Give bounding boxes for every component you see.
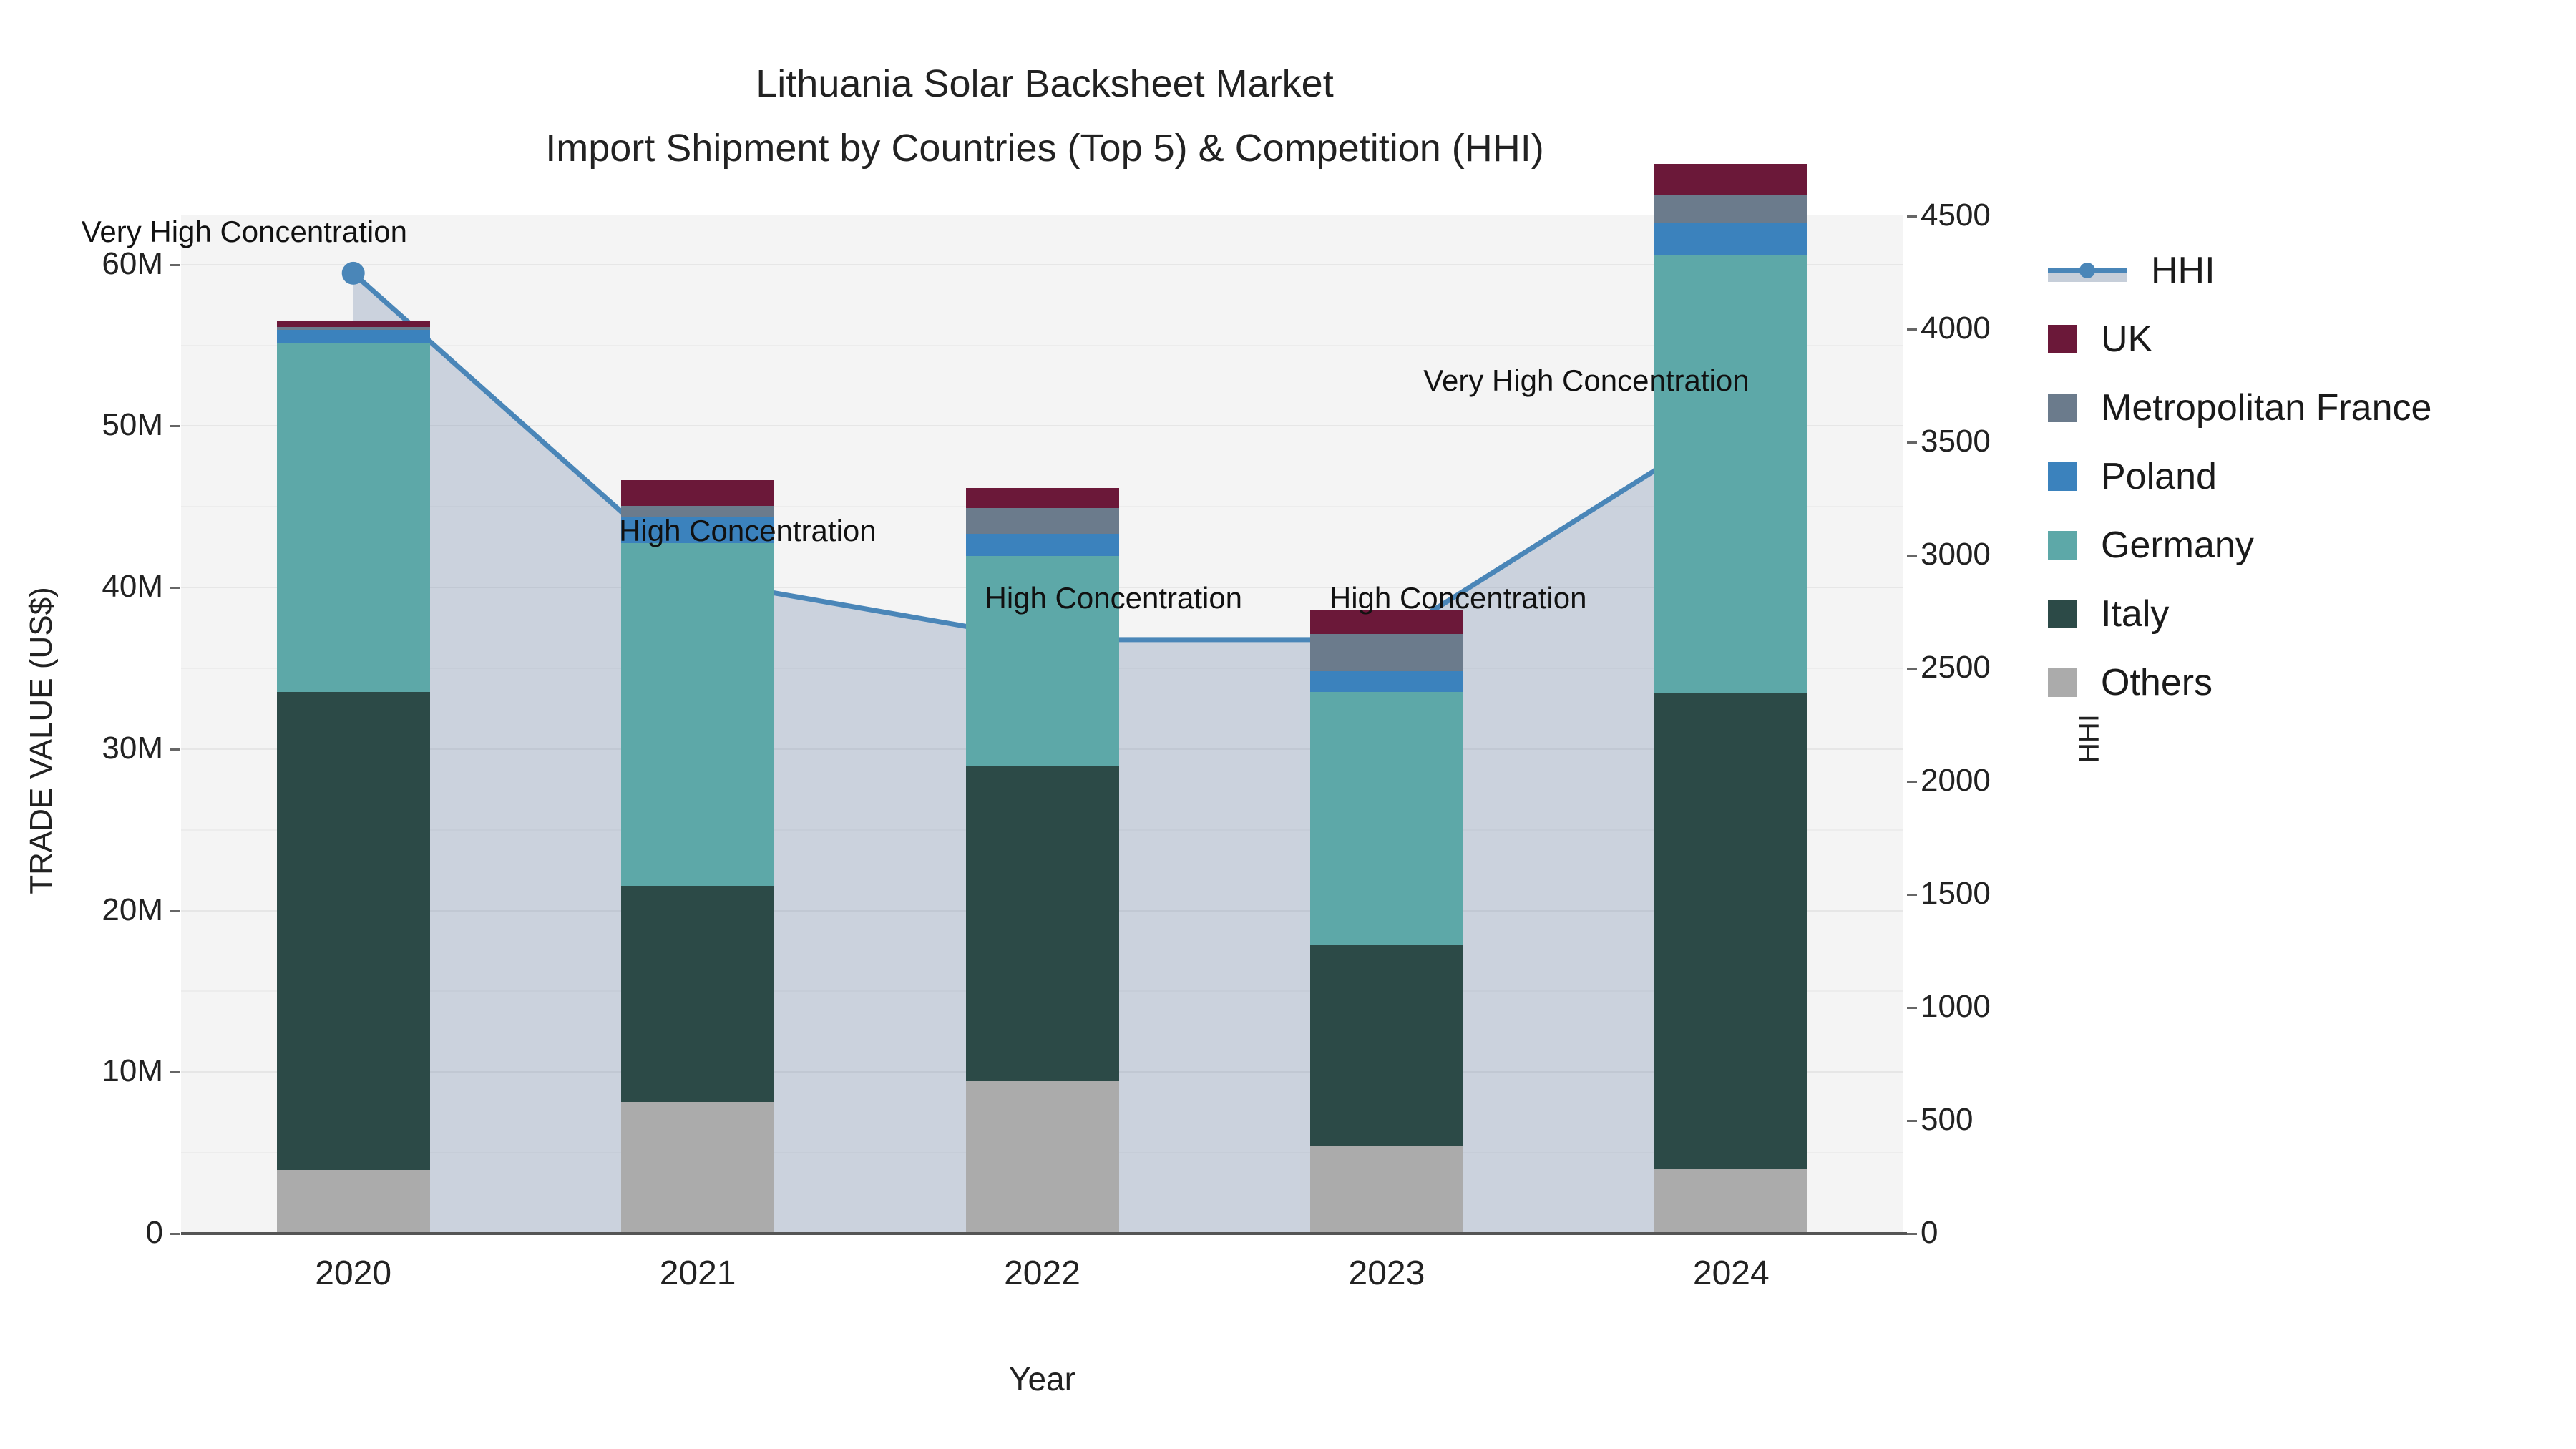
legend-item-uk[interactable]: UK <box>2048 305 2431 374</box>
legend-label: Germany <box>2101 524 2254 567</box>
legend-item-germany[interactable]: Germany <box>2048 511 2431 580</box>
bar-segment-poland[interactable] <box>277 330 430 343</box>
legend-label: Italy <box>2101 592 2169 635</box>
legend-color-swatch-icon <box>2048 668 2077 697</box>
y-left-tick-label: 0 <box>0 1215 163 1251</box>
bar-segment-italy[interactable] <box>1310 945 1463 1146</box>
bar-segment-germany[interactable] <box>621 543 774 886</box>
y-left-tick-mark <box>170 1233 180 1235</box>
legend-item-metropolitan-france[interactable]: Metropolitan France <box>2048 374 2431 442</box>
bar-segment-metropolitan-france[interactable] <box>1310 634 1463 671</box>
y-right-tick-label: 4500 <box>1921 197 2078 233</box>
y-left-tick-mark <box>170 748 180 751</box>
y-left-tick-label: 60M <box>0 246 163 282</box>
x-tick-label-2020: 2020 <box>246 1254 461 1293</box>
hhi-annotation-2024: Very High Concentration <box>1423 364 1749 398</box>
bar-segment-italy[interactable] <box>966 766 1119 1081</box>
x-tick-label-2021: 2021 <box>590 1254 805 1293</box>
y-right-tick-mark <box>1907 1233 1917 1235</box>
bar-segment-metropolitan-france[interactable] <box>1654 195 1807 224</box>
legend-color-swatch-icon <box>2048 531 2077 560</box>
x-axis-title: Year <box>181 1360 1903 1398</box>
y-left-tick-label: 50M <box>0 407 163 443</box>
bar-segment-others[interactable] <box>1654 1169 1807 1233</box>
bar-segment-germany[interactable] <box>1310 692 1463 945</box>
bar-segment-others[interactable] <box>621 1102 774 1233</box>
legend-line-swatch-icon <box>2048 256 2127 285</box>
bar-segment-others[interactable] <box>1310 1146 1463 1233</box>
y-right-tick-mark <box>1907 1007 1917 1009</box>
y-right-tick-mark <box>1907 894 1917 896</box>
y-right-tick-label: 1500 <box>1921 876 2078 912</box>
hhi-annotation-2022: High Concentration <box>985 581 1243 615</box>
bar-segment-others[interactable] <box>277 1170 430 1233</box>
bar-2023[interactable] <box>1310 0 1463 1233</box>
y-left-tick-label: 10M <box>0 1053 163 1089</box>
legend-label: Poland <box>2101 455 2217 498</box>
bar-segment-italy[interactable] <box>277 692 430 1170</box>
hhi-annotation-2023: High Concentration <box>1330 581 1587 615</box>
legend-color-swatch-icon <box>2048 394 2077 422</box>
legend-label: Others <box>2101 661 2212 704</box>
bar-segment-uk[interactable] <box>621 480 774 506</box>
bar-2022[interactable] <box>966 0 1119 1233</box>
bar-segment-poland[interactable] <box>1654 223 1807 255</box>
bar-segment-italy[interactable] <box>621 886 774 1102</box>
bar-2024[interactable] <box>1654 0 1807 1233</box>
bar-segment-others[interactable] <box>966 1081 1119 1233</box>
y-right-tick-mark <box>1907 781 1917 783</box>
bar-segment-germany[interactable] <box>1654 255 1807 693</box>
x-tick-label-2023: 2023 <box>1279 1254 1494 1293</box>
bar-segment-uk[interactable] <box>277 321 430 327</box>
y-right-tick-mark <box>1907 668 1917 670</box>
x-axis-line <box>181 1232 1907 1235</box>
x-tick-label-2024: 2024 <box>1624 1254 1838 1293</box>
y-right-tick-mark <box>1907 441 1917 444</box>
legend-label: HHI <box>2151 249 2215 292</box>
y-left-tick-mark <box>170 910 180 912</box>
y-right-tick-label: 2000 <box>1921 763 2078 799</box>
x-tick-label-2022: 2022 <box>935 1254 1150 1293</box>
legend-item-hhi[interactable]: HHI <box>2048 236 2431 305</box>
hhi-annotation-2021: High Concentration <box>619 514 877 548</box>
legend-item-others[interactable]: Others <box>2048 648 2431 717</box>
hhi-annotation-2020: Very High Concentration <box>82 215 407 249</box>
legend-label: UK <box>2101 318 2152 361</box>
y-right-tick-mark <box>1907 555 1917 557</box>
legend-item-italy[interactable]: Italy <box>2048 580 2431 648</box>
bar-segment-poland[interactable] <box>1310 671 1463 692</box>
bar-2020[interactable] <box>277 0 430 1233</box>
bar-segment-uk[interactable] <box>1654 164 1807 195</box>
bar-2021[interactable] <box>621 0 774 1233</box>
y-right-tick-mark <box>1907 215 1917 218</box>
bar-segment-italy[interactable] <box>1654 693 1807 1169</box>
y-left-tick-mark <box>170 425 180 427</box>
bar-segment-germany[interactable] <box>277 343 430 692</box>
y-axis-left-title: TRADE VALUE (US$) <box>24 519 59 962</box>
y-right-tick-label: 0 <box>1921 1215 2078 1251</box>
chart-legend: HHIUKMetropolitan FrancePolandGermanyIta… <box>2048 236 2431 717</box>
legend-color-swatch-icon <box>2048 600 2077 628</box>
legend-item-poland[interactable]: Poland <box>2048 442 2431 511</box>
bar-segment-poland[interactable] <box>966 534 1119 557</box>
y-left-tick-mark <box>170 587 180 589</box>
y-right-tick-mark <box>1907 1120 1917 1122</box>
y-right-tick-mark <box>1907 328 1917 331</box>
bar-segment-metropolitan-france[interactable] <box>966 508 1119 534</box>
legend-label: Metropolitan France <box>2101 386 2431 429</box>
legend-color-swatch-icon <box>2048 325 2077 353</box>
y-left-tick-mark <box>170 1071 180 1073</box>
bar-segment-uk[interactable] <box>966 488 1119 507</box>
legend-color-swatch-icon <box>2048 462 2077 491</box>
y-right-tick-label: 1000 <box>1921 989 2078 1025</box>
bar-segment-metropolitan-france[interactable] <box>277 327 430 331</box>
y-right-tick-label: 500 <box>1921 1102 2078 1138</box>
y-left-tick-mark <box>170 264 180 266</box>
